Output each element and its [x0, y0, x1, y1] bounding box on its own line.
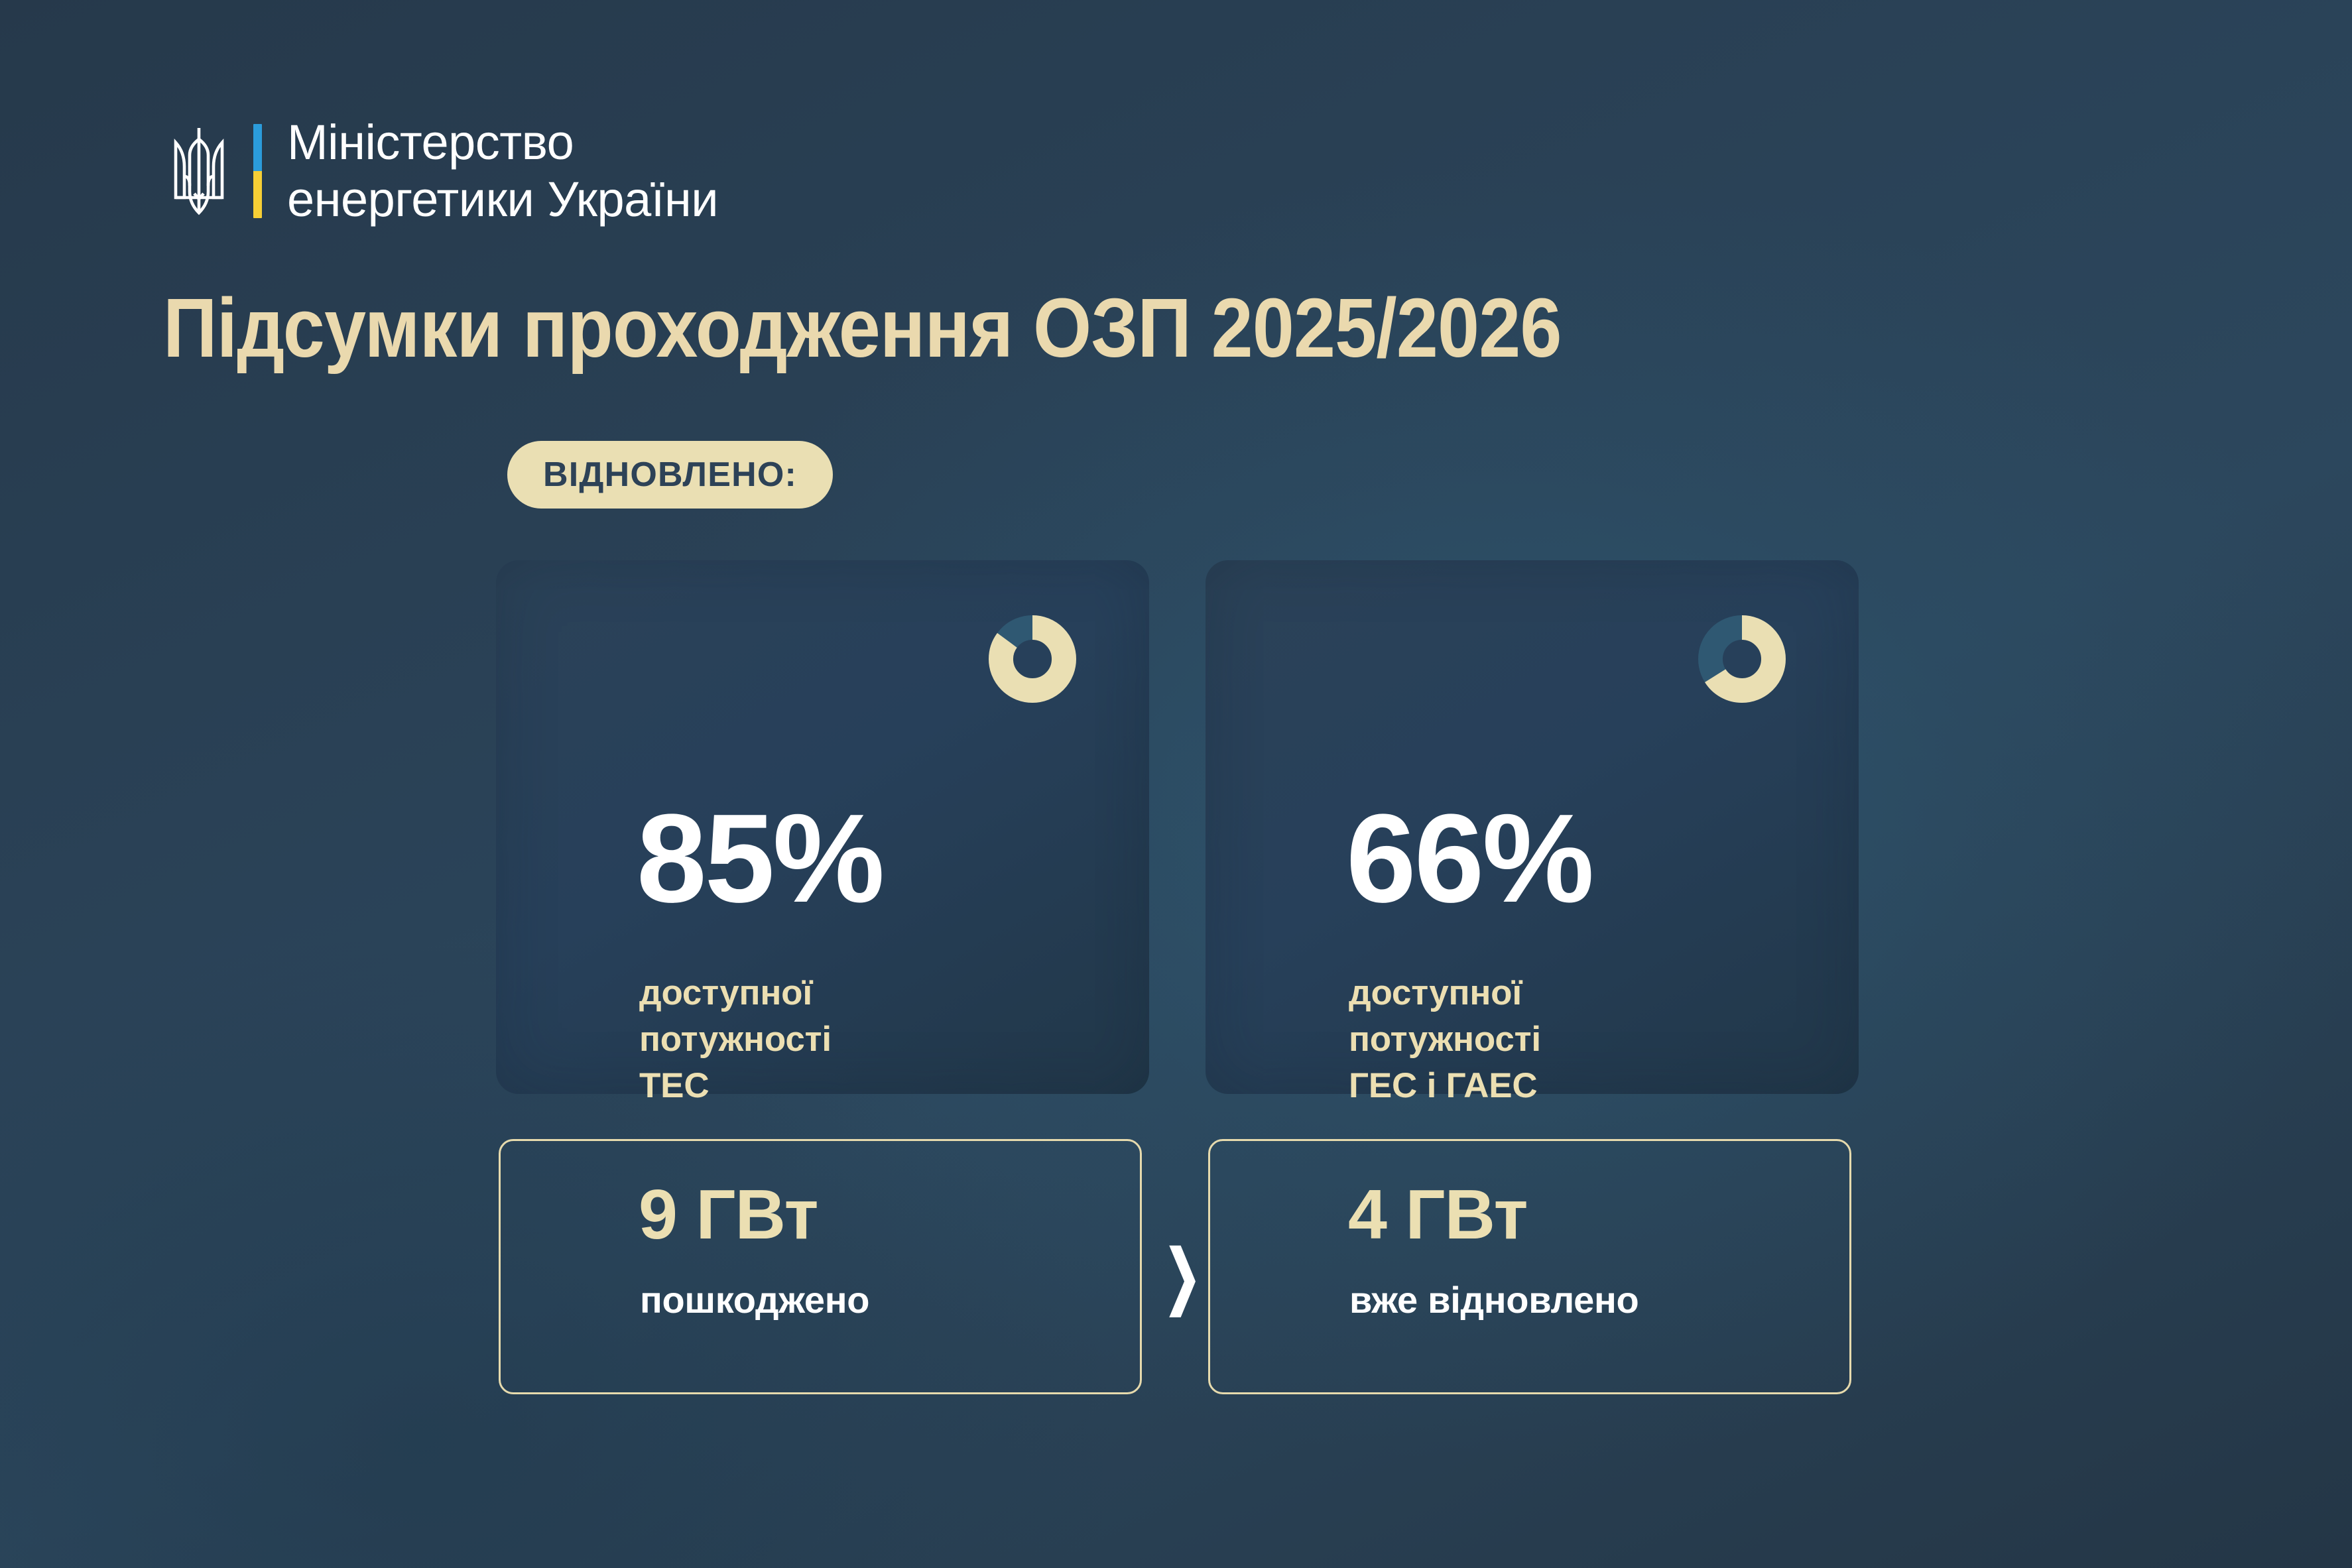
metric-box-restored: 4 ГВт вже відновлено [1208, 1139, 1851, 1394]
metric-box-damaged: 9 ГВт пошкоджено [499, 1139, 1142, 1394]
metric-value-damaged: 9 ГВт [639, 1179, 818, 1250]
donut-progress-icon [1698, 615, 1786, 703]
stat-caption-ges: доступної потужності ГЕС і ГАЕС [1349, 970, 1541, 1109]
ministry-name: Міністерство енергетики України [287, 114, 718, 228]
ministry-logo: Міністерство енергетики України [167, 114, 718, 228]
metric-label-restored: вже відновлено [1349, 1282, 1639, 1319]
page-title: Підсумки проходження ОЗП 2025/2026 [163, 286, 1562, 370]
metric-value-restored: 4 ГВт [1348, 1179, 1528, 1250]
stat-card-tes: 85% доступної потужності ТЕС [496, 560, 1149, 1094]
stat-value-ges: 66% [1346, 796, 1592, 922]
infographic-canvas: Міністерство енергетики України Підсумки… [0, 0, 2352, 1568]
status-badge-label: ВІДНОВЛЕНО: [543, 455, 797, 495]
status-badge: ВІДНОВЛЕНО: [507, 441, 833, 509]
metric-label-damaged: пошкоджено [640, 1282, 869, 1319]
stat-caption-tes: доступної потужності ТЕС [639, 970, 832, 1109]
stat-card-ges: 66% доступної потужності ГЕС і ГАЕС [1206, 560, 1859, 1094]
ukraine-trident-icon [167, 125, 231, 217]
stat-value-tes: 85% [637, 796, 883, 922]
chevron-right-icon: ❯ [1164, 1241, 1201, 1311]
donut-progress-icon [989, 615, 1076, 703]
ukraine-flag-bar-icon [253, 124, 262, 218]
